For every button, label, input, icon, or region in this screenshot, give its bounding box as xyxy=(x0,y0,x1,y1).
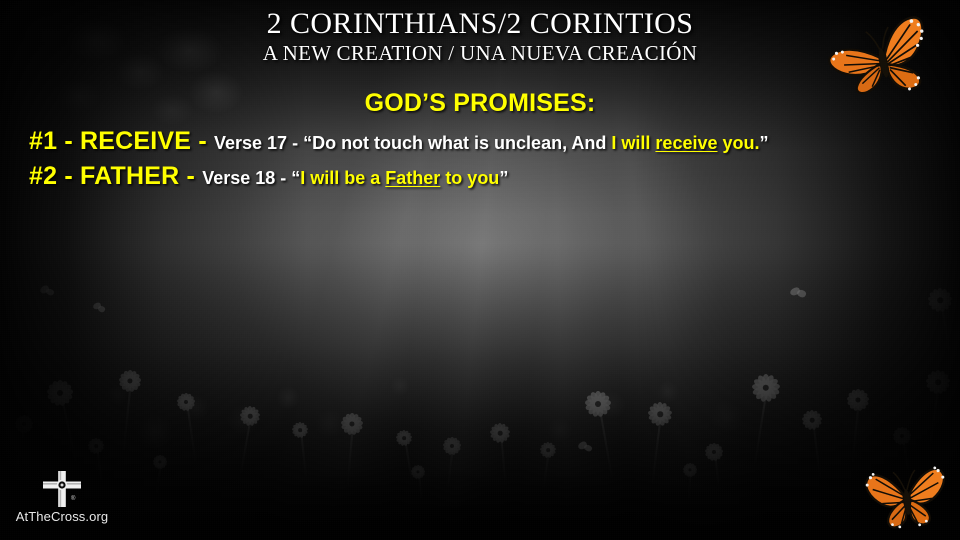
promise-1-quote-pre: I will xyxy=(611,133,655,153)
promise-1-closing-quote: ” xyxy=(760,133,769,153)
promise-2-quote-post: to you xyxy=(440,168,499,188)
promise-2-quote-pre: I will be a xyxy=(300,168,385,188)
promise-1-quote-post: you. xyxy=(717,133,759,153)
logo-text: AtTheCross.org xyxy=(12,509,112,524)
promise-line-1: #1 - RECEIVE - Verse 17 - “Do not touch … xyxy=(29,127,769,156)
promise-line-2: #2 - FATHER - Verse 18 - “I will be a Fa… xyxy=(29,162,508,191)
promise-1-lead: #1 - RECEIVE - xyxy=(29,127,214,155)
presentation-slide: 2 CORINTHIANS/2 CORINTIOS A NEW CREATION… xyxy=(0,0,960,540)
promise-2-quote-keyword: Father xyxy=(385,168,440,188)
registered-trademark-icon: ® xyxy=(71,496,75,502)
logo[interactable]: ® AtTheCross.org xyxy=(12,470,112,524)
promise-2-closing-quote: ” xyxy=(499,168,508,188)
cross-icon: ® xyxy=(12,470,112,508)
film-grain-overlay xyxy=(0,0,960,540)
promises-heading: GOD’S PROMISES: xyxy=(0,89,960,118)
promise-2-reference: Verse 18 - “ xyxy=(202,168,300,188)
promise-1-quote-keyword: receive xyxy=(655,133,717,153)
monarch-butterfly-bottom-right xyxy=(862,462,952,536)
promise-2-lead: #2 - FATHER - xyxy=(29,162,202,190)
promise-1-reference: Verse 17 - “Do not touch what is unclean… xyxy=(214,133,611,153)
